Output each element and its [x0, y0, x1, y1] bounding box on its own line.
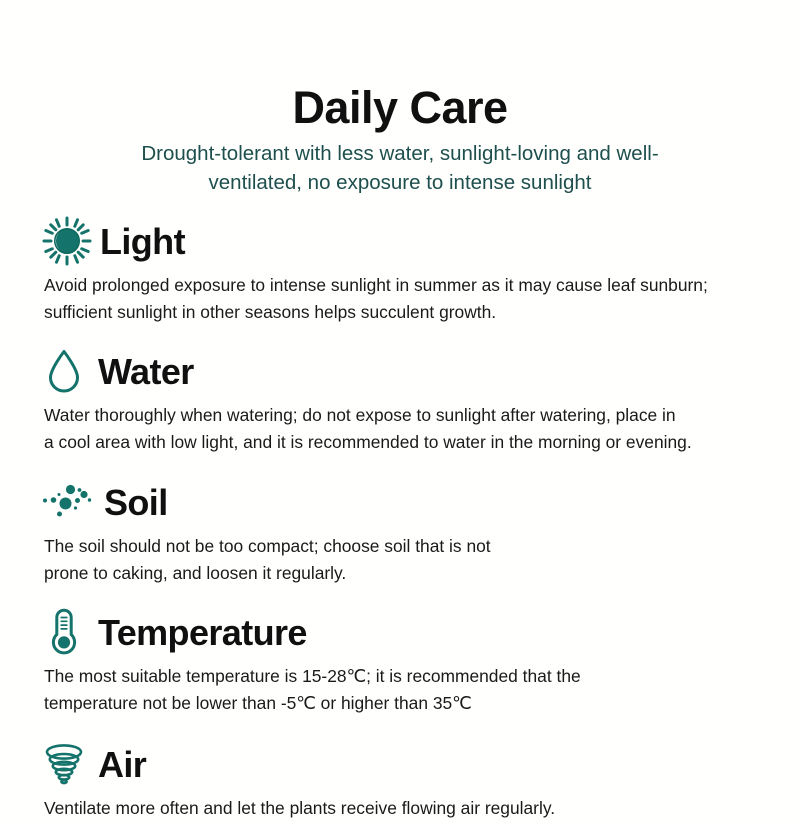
section-water-body: Water thoroughly when watering; do not e…	[44, 402, 760, 455]
section-light-header: Light	[38, 215, 760, 267]
section-soil: Soil The soil should not be too compact;…	[38, 476, 760, 586]
soil-dots-icon	[38, 476, 96, 528]
section-temperature-title: Temperature	[98, 615, 307, 651]
section-air-body: Ventilate more often and let the plants …	[44, 795, 760, 821]
page-subtitle: Drought-tolerant with less water, sunlig…	[120, 139, 680, 197]
care-sections: Light Avoid prolonged exposure to intens…	[0, 215, 800, 821]
sun-icon	[38, 215, 96, 267]
page-title: Daily Care	[0, 84, 800, 131]
section-air-header: Air	[38, 738, 760, 790]
section-temperature-header: Temperature	[38, 606, 760, 658]
section-soil-body: The soil should not be too compact; choo…	[44, 533, 760, 586]
section-light-title: Light	[100, 224, 185, 260]
section-light-body: Avoid prolonged exposure to intense sunl…	[44, 272, 760, 325]
section-water: Water Water thoroughly when watering; do…	[38, 345, 760, 455]
tornado-air-icon	[38, 738, 90, 790]
thermometer-icon	[38, 606, 90, 658]
section-air-title: Air	[98, 747, 146, 783]
header: Daily Care Drought-tolerant with less wa…	[0, 0, 800, 197]
section-temperature: Temperature The most suitable temperatur…	[38, 606, 760, 716]
section-soil-header: Soil	[38, 476, 760, 528]
section-soil-title: Soil	[104, 485, 168, 521]
section-air: Air Ventilate more often and let the pla…	[38, 738, 760, 821]
section-water-title: Water	[98, 354, 194, 390]
daily-care-infographic: Daily Care Drought-tolerant with less wa…	[0, 0, 800, 800]
section-temperature-body: The most suitable temperature is 15-28℃;…	[44, 663, 760, 716]
water-drop-icon	[38, 345, 90, 397]
section-water-header: Water	[38, 345, 760, 397]
section-light: Light Avoid prolonged exposure to intens…	[38, 215, 760, 325]
